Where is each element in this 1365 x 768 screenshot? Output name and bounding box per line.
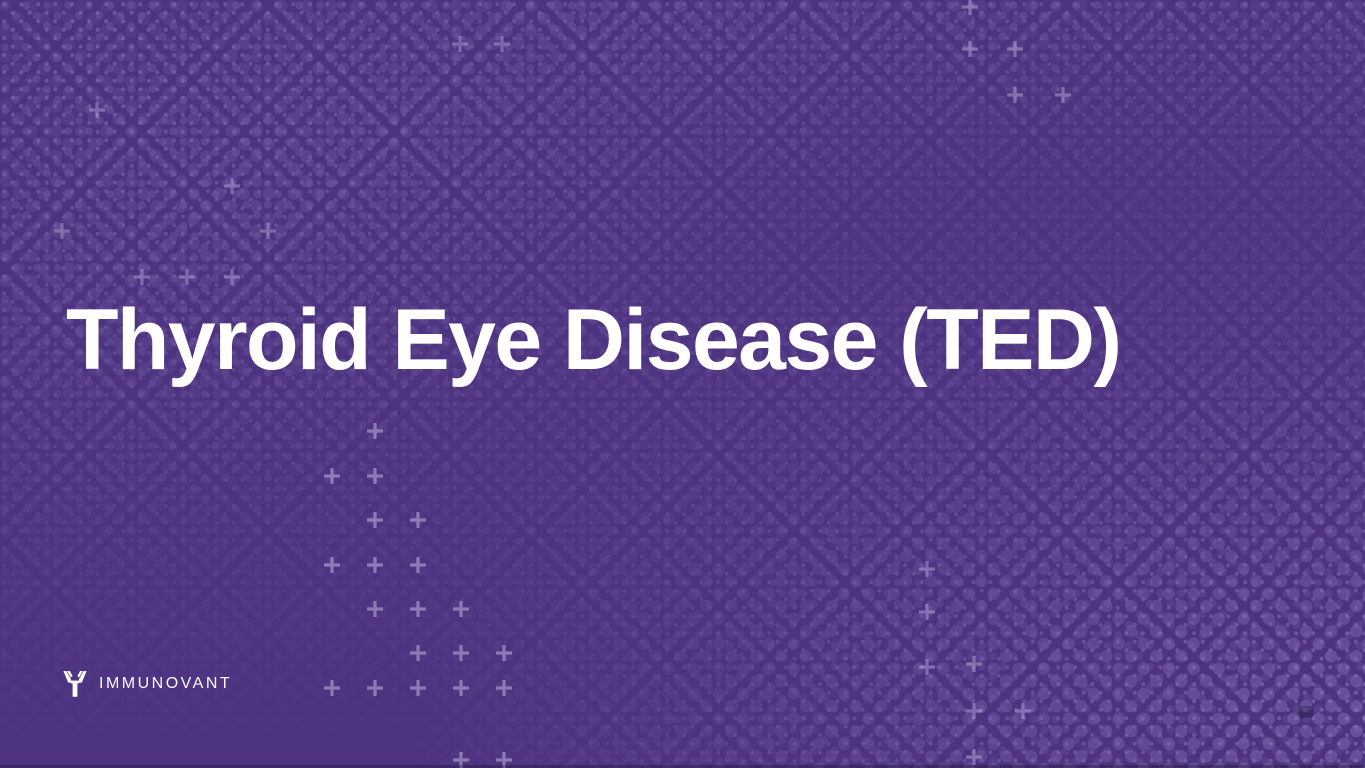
page-title: Thyroid Eye Disease (TED) [66, 296, 1216, 385]
title-slide: Thyroid Eye Disease (TED) IMMUNOVA [0, 0, 1365, 768]
antibody-icon [62, 670, 88, 698]
immunovant-wordmark: IMMUNOVANT [99, 676, 232, 692]
corner-artifact [1299, 706, 1313, 718]
title-block: Thyroid Eye Disease (TED) [66, 296, 1216, 385]
immunovant-logo: IMMUNOVANT [62, 670, 232, 698]
